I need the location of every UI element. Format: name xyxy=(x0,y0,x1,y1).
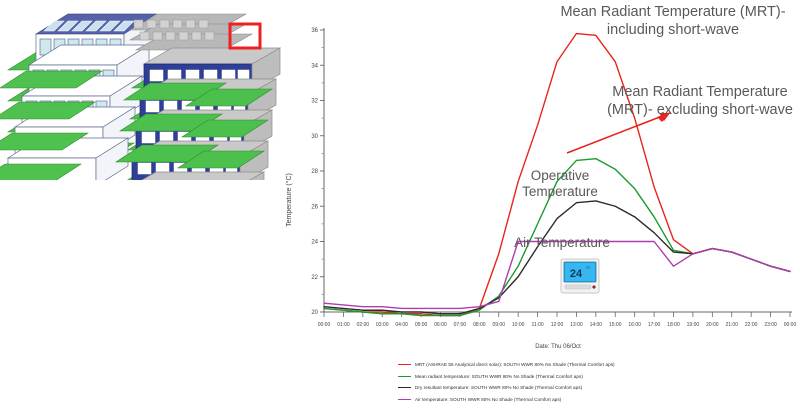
y-axis-title: Temperature (°C) xyxy=(285,173,293,227)
y-tick-label: 24 xyxy=(311,240,318,246)
x-tick-label: 12:00 xyxy=(551,322,564,328)
y-tick-label: 36 xyxy=(311,28,318,34)
figure-root: 202224262830323436 00:0001:0002:0003:000… xyxy=(0,0,800,418)
x-tick-label: 07:00 xyxy=(454,322,467,328)
x-tick-label: 20:00 xyxy=(706,322,719,328)
thermostat-unit: °C xyxy=(586,265,591,270)
legend-item[interactable]: Air temperature: SOUTH WWR 80% No Shade … xyxy=(398,394,798,405)
y-tick-label: 30 xyxy=(311,134,318,140)
x-axis-title: Date: Thu 06/Oct xyxy=(535,344,581,350)
x-tick-label: 03:00 xyxy=(376,322,389,328)
x-tick-label: 15:00 xyxy=(609,322,622,328)
x-tick-label: 02:00 xyxy=(357,322,370,328)
legend-label: Mean radiant temperature: SOUTH WWR 80% … xyxy=(415,374,583,379)
x-tick-label: 10:00 xyxy=(512,322,525,328)
building-diagrams xyxy=(0,0,292,180)
label-operative-temperature: Operative Temperature xyxy=(505,168,615,201)
x-tick-label: 14:00 xyxy=(590,322,603,328)
legend-swatch xyxy=(398,376,411,377)
x-tick-label: 17:00 xyxy=(648,322,661,328)
legend-item[interactable]: MRT (ASHRAE 55 Analytical direct solar):… xyxy=(398,359,798,370)
x-tick-label: 09:00 xyxy=(492,322,505,328)
y-tick-label: 34 xyxy=(311,63,318,69)
x-tick-label: 22:00 xyxy=(745,322,758,328)
x-tick-label: 16:00 xyxy=(628,322,641,328)
y-tick-label: 26 xyxy=(311,204,318,210)
x-tick-label: 01:00 xyxy=(337,322,350,328)
y-tick-label: 20 xyxy=(311,310,318,316)
x-tick-label: 00:00 xyxy=(784,322,797,328)
y-axis-ticks: 202224262830323436 xyxy=(311,28,324,316)
series-line xyxy=(324,242,790,309)
legend-label: MRT (ASHRAE 55 Analytical direct solar):… xyxy=(415,362,615,367)
annotation-mrt-excluding: Mean Radiant Temperature (MRT)- excludin… xyxy=(600,84,800,119)
series-line xyxy=(324,201,790,314)
x-tick-label: 04:00 xyxy=(395,322,408,328)
x-tick-label: 05:00 xyxy=(415,322,428,328)
x-tick-label: 23:00 xyxy=(764,322,777,328)
legend-item[interactable]: Dry resultant temperature: SOUTH WWR 80%… xyxy=(398,382,798,393)
annotation-mrt-including: Mean Radiant Temperature (MRT)- includin… xyxy=(548,4,798,39)
legend-label: Dry resultant temperature: SOUTH WWR 80%… xyxy=(415,385,582,390)
x-tick-label: 18:00 xyxy=(667,322,680,328)
building-diagram-svg xyxy=(0,0,292,180)
x-tick-label: 11:00 xyxy=(532,322,544,328)
y-tick-label: 28 xyxy=(311,169,318,175)
x-tick-label: 00:00 xyxy=(318,322,331,328)
thermostat-reading: 24 xyxy=(570,268,583,280)
y-tick-label: 32 xyxy=(311,99,318,105)
building-model-shaded xyxy=(116,14,280,180)
y-tick-label: 22 xyxy=(311,275,318,281)
x-tick-label: 19:00 xyxy=(687,322,700,328)
thermostat-icon: 24 °C xyxy=(560,258,600,296)
x-tick-label: 21:00 xyxy=(725,322,738,328)
label-air-temperature: Air Temperature xyxy=(497,235,627,251)
legend-item[interactable]: Mean radiant temperature: SOUTH WWR 80% … xyxy=(398,371,798,382)
chart-legend: MRT (ASHRAE 55 Analytical direct solar):… xyxy=(398,359,798,405)
x-tick-label: 06:00 xyxy=(434,322,447,328)
x-tick-label: 08:00 xyxy=(473,322,486,328)
legend-swatch xyxy=(398,399,411,400)
legend-swatch xyxy=(398,364,411,365)
x-tick-label: 13:00 xyxy=(570,322,583,328)
legend-label: Air temperature: SOUTH WWR 80% No Shade … xyxy=(415,397,561,402)
legend-swatch xyxy=(398,387,411,388)
temperature-chart: 202224262830323436 00:0001:0002:0003:000… xyxy=(278,0,800,418)
chart-svg: 202224262830323436 00:0001:0002:0003:000… xyxy=(278,0,800,418)
